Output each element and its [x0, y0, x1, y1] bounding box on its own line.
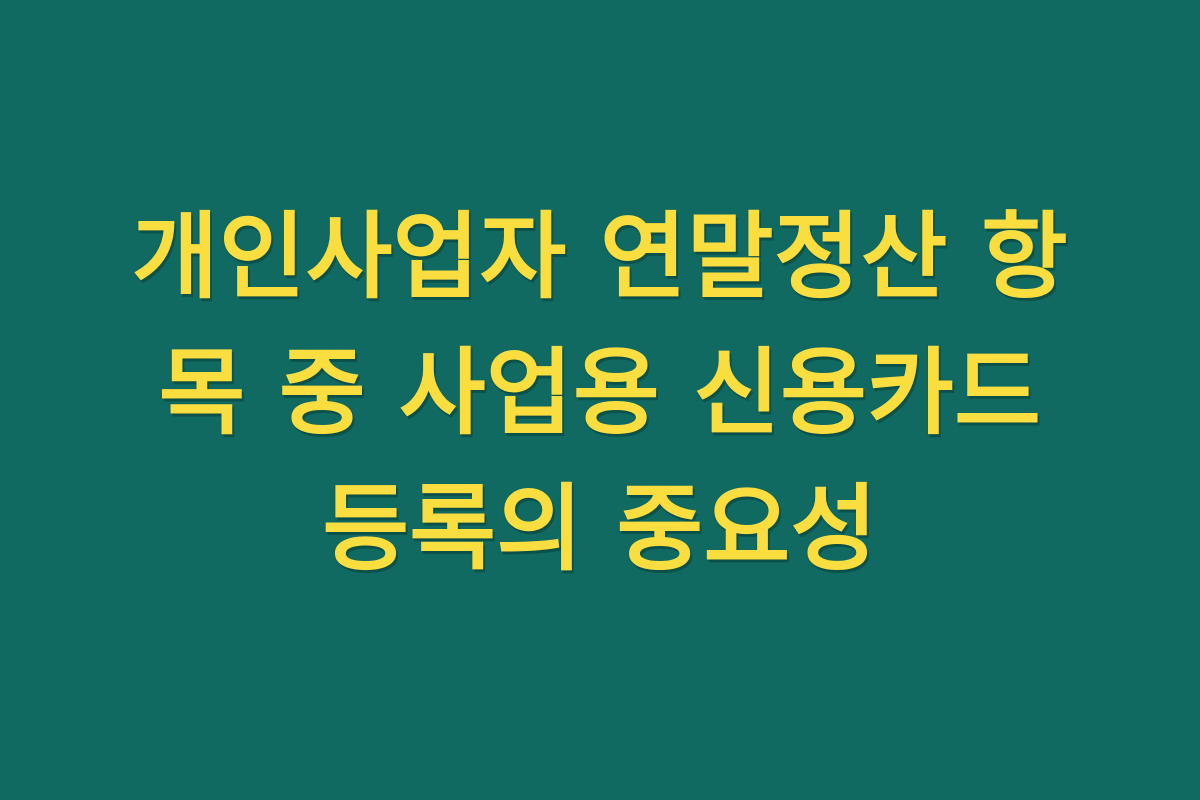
title-line-2: 목 중 사업용 신용카드 — [70, 326, 1130, 462]
title-line-1: 개인사업자 연말정산 항 — [70, 190, 1130, 326]
title-banner: 개인사업자 연말정산 항 목 중 사업용 신용카드 등록의 중요성 — [0, 0, 1200, 800]
page-title: 개인사업자 연말정산 항 목 중 사업용 신용카드 등록의 중요성 — [70, 190, 1130, 598]
title-line-3: 등록의 중요성 — [70, 462, 1130, 598]
